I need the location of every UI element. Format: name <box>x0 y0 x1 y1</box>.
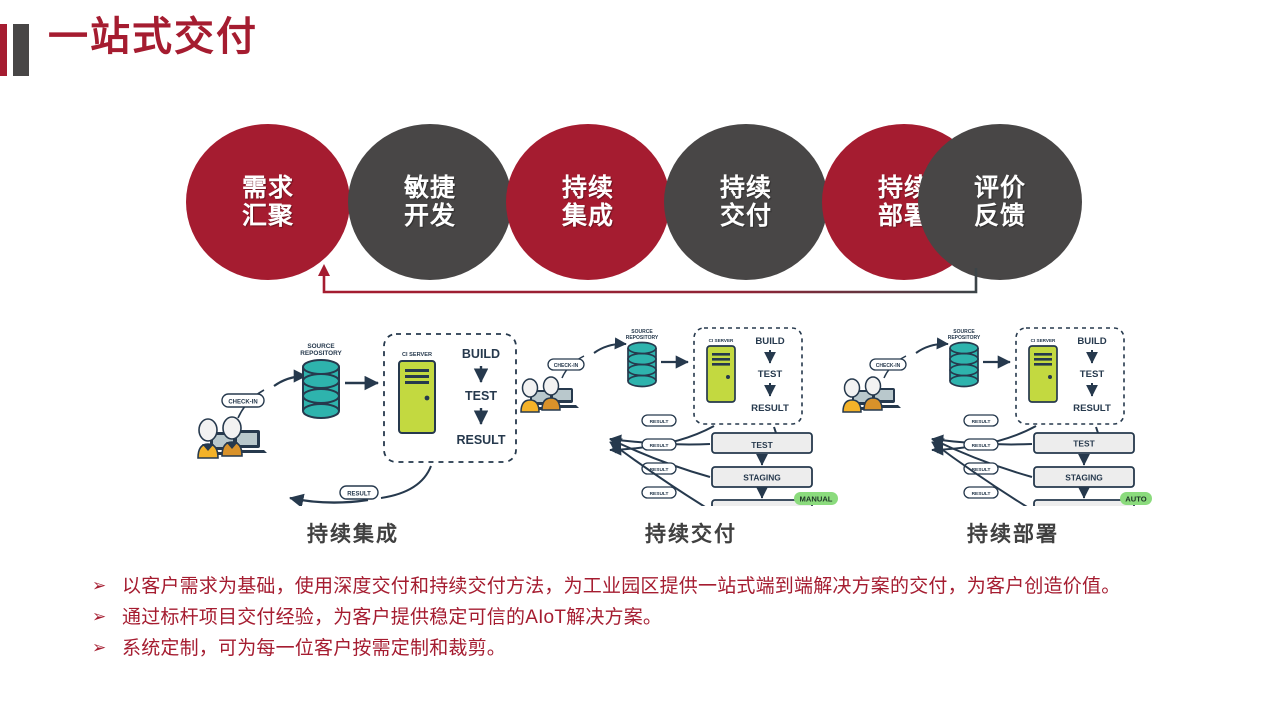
stage-box-test-label: TEST <box>1073 439 1095 449</box>
ci-step-test: TEST <box>465 389 497 403</box>
checkin-label: CHECK-IN <box>554 363 579 369</box>
ci-server-icon <box>1029 346 1057 402</box>
source-repository-label-line2: REPOSITORY <box>300 350 342 357</box>
result-label-2: RESULT <box>650 443 669 449</box>
ci-step-build: BUILD <box>1077 336 1106 347</box>
pipeline-stage-6[interactable]: 评价 反馈 <box>918 124 1082 280</box>
source-repository-label-line2: REPOSITORY <box>948 335 981 341</box>
pipeline-stage-6-line1: 评价 <box>974 174 1026 202</box>
result-label-1: RESULT <box>972 419 991 425</box>
result-label-4: RESULT <box>650 491 669 497</box>
diagram-1-caption: 持续集成 <box>178 518 528 548</box>
stage-box-staging-label: STAGING <box>1065 473 1103 483</box>
stage-box-staging-label: STAGING <box>743 473 781 483</box>
diagram-continuous-delivery: CHECK-IN SOURCE REPOSITORY CI SERVER BUI… <box>516 326 866 506</box>
source-repository-label-line2: REPOSITORY <box>626 335 659 341</box>
pipeline-stage-4-line2: 交付 <box>720 202 772 230</box>
stage-box-production[interactable]: PRODUCTION <box>1034 500 1134 506</box>
pipeline-stage-row: 需求 汇聚 敏捷 开发 持续 集成 持续 交付 持续 部署 评价 反馈 <box>0 124 1282 284</box>
stage-box-test-label: TEST <box>751 440 773 450</box>
stage-box-test[interactable]: TEST <box>1034 433 1134 453</box>
result-label-1: RESULT <box>650 419 669 425</box>
ci-step-result: RESULT <box>751 403 789 414</box>
bullet-list: ➢ 以客户需求为基础，使用深度交付和持续交付方法，为工业园区提供一站式端到端解决… <box>92 575 1242 668</box>
deploy-mode-badge: AUTO <box>1120 492 1152 505</box>
ci-step-test: TEST <box>1080 369 1105 380</box>
database-icon <box>628 343 656 387</box>
pipeline-stage-4-line1: 持续 <box>720 174 772 202</box>
pipeline-stage-3-line1: 持续 <box>562 174 614 202</box>
ci-server-icon <box>399 361 435 433</box>
result-label-4: RESULT <box>972 491 991 497</box>
ci-step-result: RESULT <box>1073 403 1111 414</box>
bullet-item-3-text: 系统定制，可为每一位客户按需定制和裁剪。 <box>122 637 506 661</box>
diagram-continuous-deployment: CHECK-IN SOURCE REPOSITORY CI SERVER BUI… <box>838 326 1188 506</box>
database-icon <box>303 360 339 418</box>
stage-box-staging[interactable]: STAGING <box>1034 467 1134 487</box>
ci-server-label: CI SERVER <box>709 338 734 343</box>
bullet-item-1: ➢ 以客户需求为基础，使用深度交付和持续交付方法，为工业园区提供一站式端到端解决… <box>92 575 1242 599</box>
bullet-item-2: ➢ 通过标杆项目交付经验，为客户提供稳定可信的AIoT解决方案。 <box>92 606 1242 630</box>
diagram-continuous-integration: CHECK-IN SOURCE REPOSITORY CI SERVER BUI… <box>178 326 528 506</box>
pipeline-stage-2-line2: 开发 <box>404 202 456 230</box>
pipeline-stage-2-line1: 敏捷 <box>404 174 456 202</box>
deploy-mode-badge-label: AUTO <box>1125 495 1146 504</box>
stage-box-test[interactable]: TEST <box>712 433 812 453</box>
checkin-label: CHECK-IN <box>228 400 257 406</box>
stage-box-production-label: PRODUCTION <box>1056 506 1112 507</box>
bullet-item-2-text: 通过标杆项目交付经验，为客户提供稳定可信的AIoT解决方案。 <box>122 606 662 630</box>
source-repository-label-line1: SOURCE <box>307 343 335 350</box>
deploy-mode-badge: MANUAL <box>794 492 838 505</box>
pipeline-stage-3-line2: 集成 <box>562 202 614 230</box>
title-accent-gray-bar <box>13 24 29 76</box>
pipeline-stage-1-line1: 需求 <box>242 174 294 202</box>
checkin-label: CHECK-IN <box>876 363 901 369</box>
pipeline-stage-2[interactable]: 敏捷 开发 <box>348 124 512 280</box>
ci-step-test: TEST <box>758 369 783 380</box>
ci-step-build: BUILD <box>462 347 500 361</box>
stage-box-production-label: PRODUCTION <box>734 506 790 507</box>
developer-group-3 <box>843 377 901 412</box>
ci-step-build: BUILD <box>755 336 784 347</box>
bullet-item-3: ➢ 系统定制，可为每一位客户按需定制和裁剪。 <box>92 637 1242 661</box>
result-label-2: RESULT <box>972 443 991 449</box>
result-label: RESULT <box>347 492 371 498</box>
deploy-mode-badge-label: MANUAL <box>800 495 833 504</box>
developer-group-2 <box>521 377 579 412</box>
bullet-item-1-text: 以客户需求为基础，使用深度交付和持续交付方法，为工业园区提供一站式端到端解决方案… <box>122 575 1120 599</box>
bullet-arrow-icon: ➢ <box>92 606 122 628</box>
pipeline-stage-3[interactable]: 持续 集成 <box>506 124 670 280</box>
stage-box-staging[interactable]: STAGING <box>712 467 812 487</box>
page-title: 一站式交付 <box>48 17 258 57</box>
bullet-arrow-icon: ➢ <box>92 637 122 659</box>
bullet-arrow-icon: ➢ <box>92 575 122 597</box>
feedback-loop-arrow <box>300 262 1000 304</box>
developer-group-1 <box>198 417 267 458</box>
ci-server-icon <box>707 346 735 402</box>
ci-server-label: CI SERVER <box>1031 338 1056 343</box>
diagram-3-caption: 持续部署 <box>838 518 1188 548</box>
pipeline-stage-6-line2: 反馈 <box>974 202 1026 230</box>
title-accent-red-bar <box>0 24 7 76</box>
database-icon <box>950 343 978 387</box>
pipeline-stage-1[interactable]: 需求 汇聚 <box>186 124 350 280</box>
pipeline-stage-1-line2: 汇聚 <box>242 202 294 230</box>
ci-step-result: RESULT <box>456 433 505 447</box>
pipeline-stage-4[interactable]: 持续 交付 <box>664 124 828 280</box>
ci-server-label: CI SERVER <box>402 352 432 358</box>
diagram-2-caption: 持续交付 <box>516 518 866 548</box>
